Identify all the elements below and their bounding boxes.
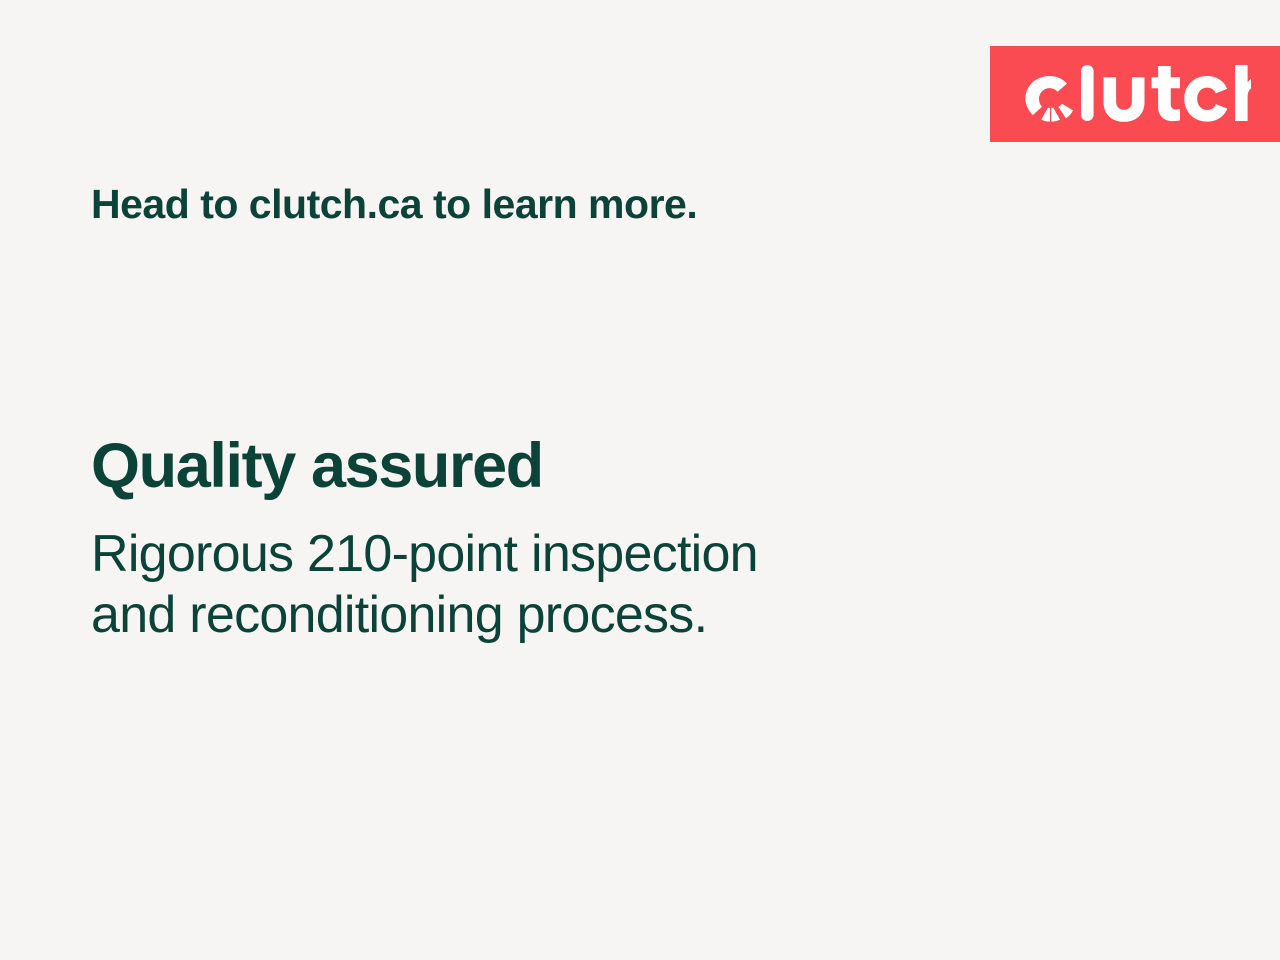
lead-line-text: Head to clutch.ca to learn more.	[91, 180, 697, 228]
clutch-brand-badge[interactable]: clutch	[990, 46, 1280, 142]
clutch-letter-u	[1104, 77, 1145, 122]
subhead-line-1: Rigorous 210-point inspection	[91, 524, 991, 585]
clutch-wordmark-logo: clutch	[1019, 63, 1251, 125]
page-subhead: Rigorous 210-point inspection and recond…	[91, 524, 991, 647]
clutch-letter-c2	[1184, 76, 1227, 122]
clutch-letter-l	[1081, 65, 1094, 121]
clutch-letter-h	[1235, 65, 1251, 121]
slide-canvas: clutch Head to clutch.ca to learn more. …	[0, 0, 1280, 960]
headline-block: Quality assured Rigorous 210-point inspe…	[91, 432, 991, 647]
page-headline: Quality assured	[91, 432, 991, 500]
clutch-c-wedge-mark	[1025, 76, 1073, 122]
clutch-letter-t	[1152, 66, 1181, 121]
subhead-line-2: and reconditioning process.	[91, 585, 991, 646]
